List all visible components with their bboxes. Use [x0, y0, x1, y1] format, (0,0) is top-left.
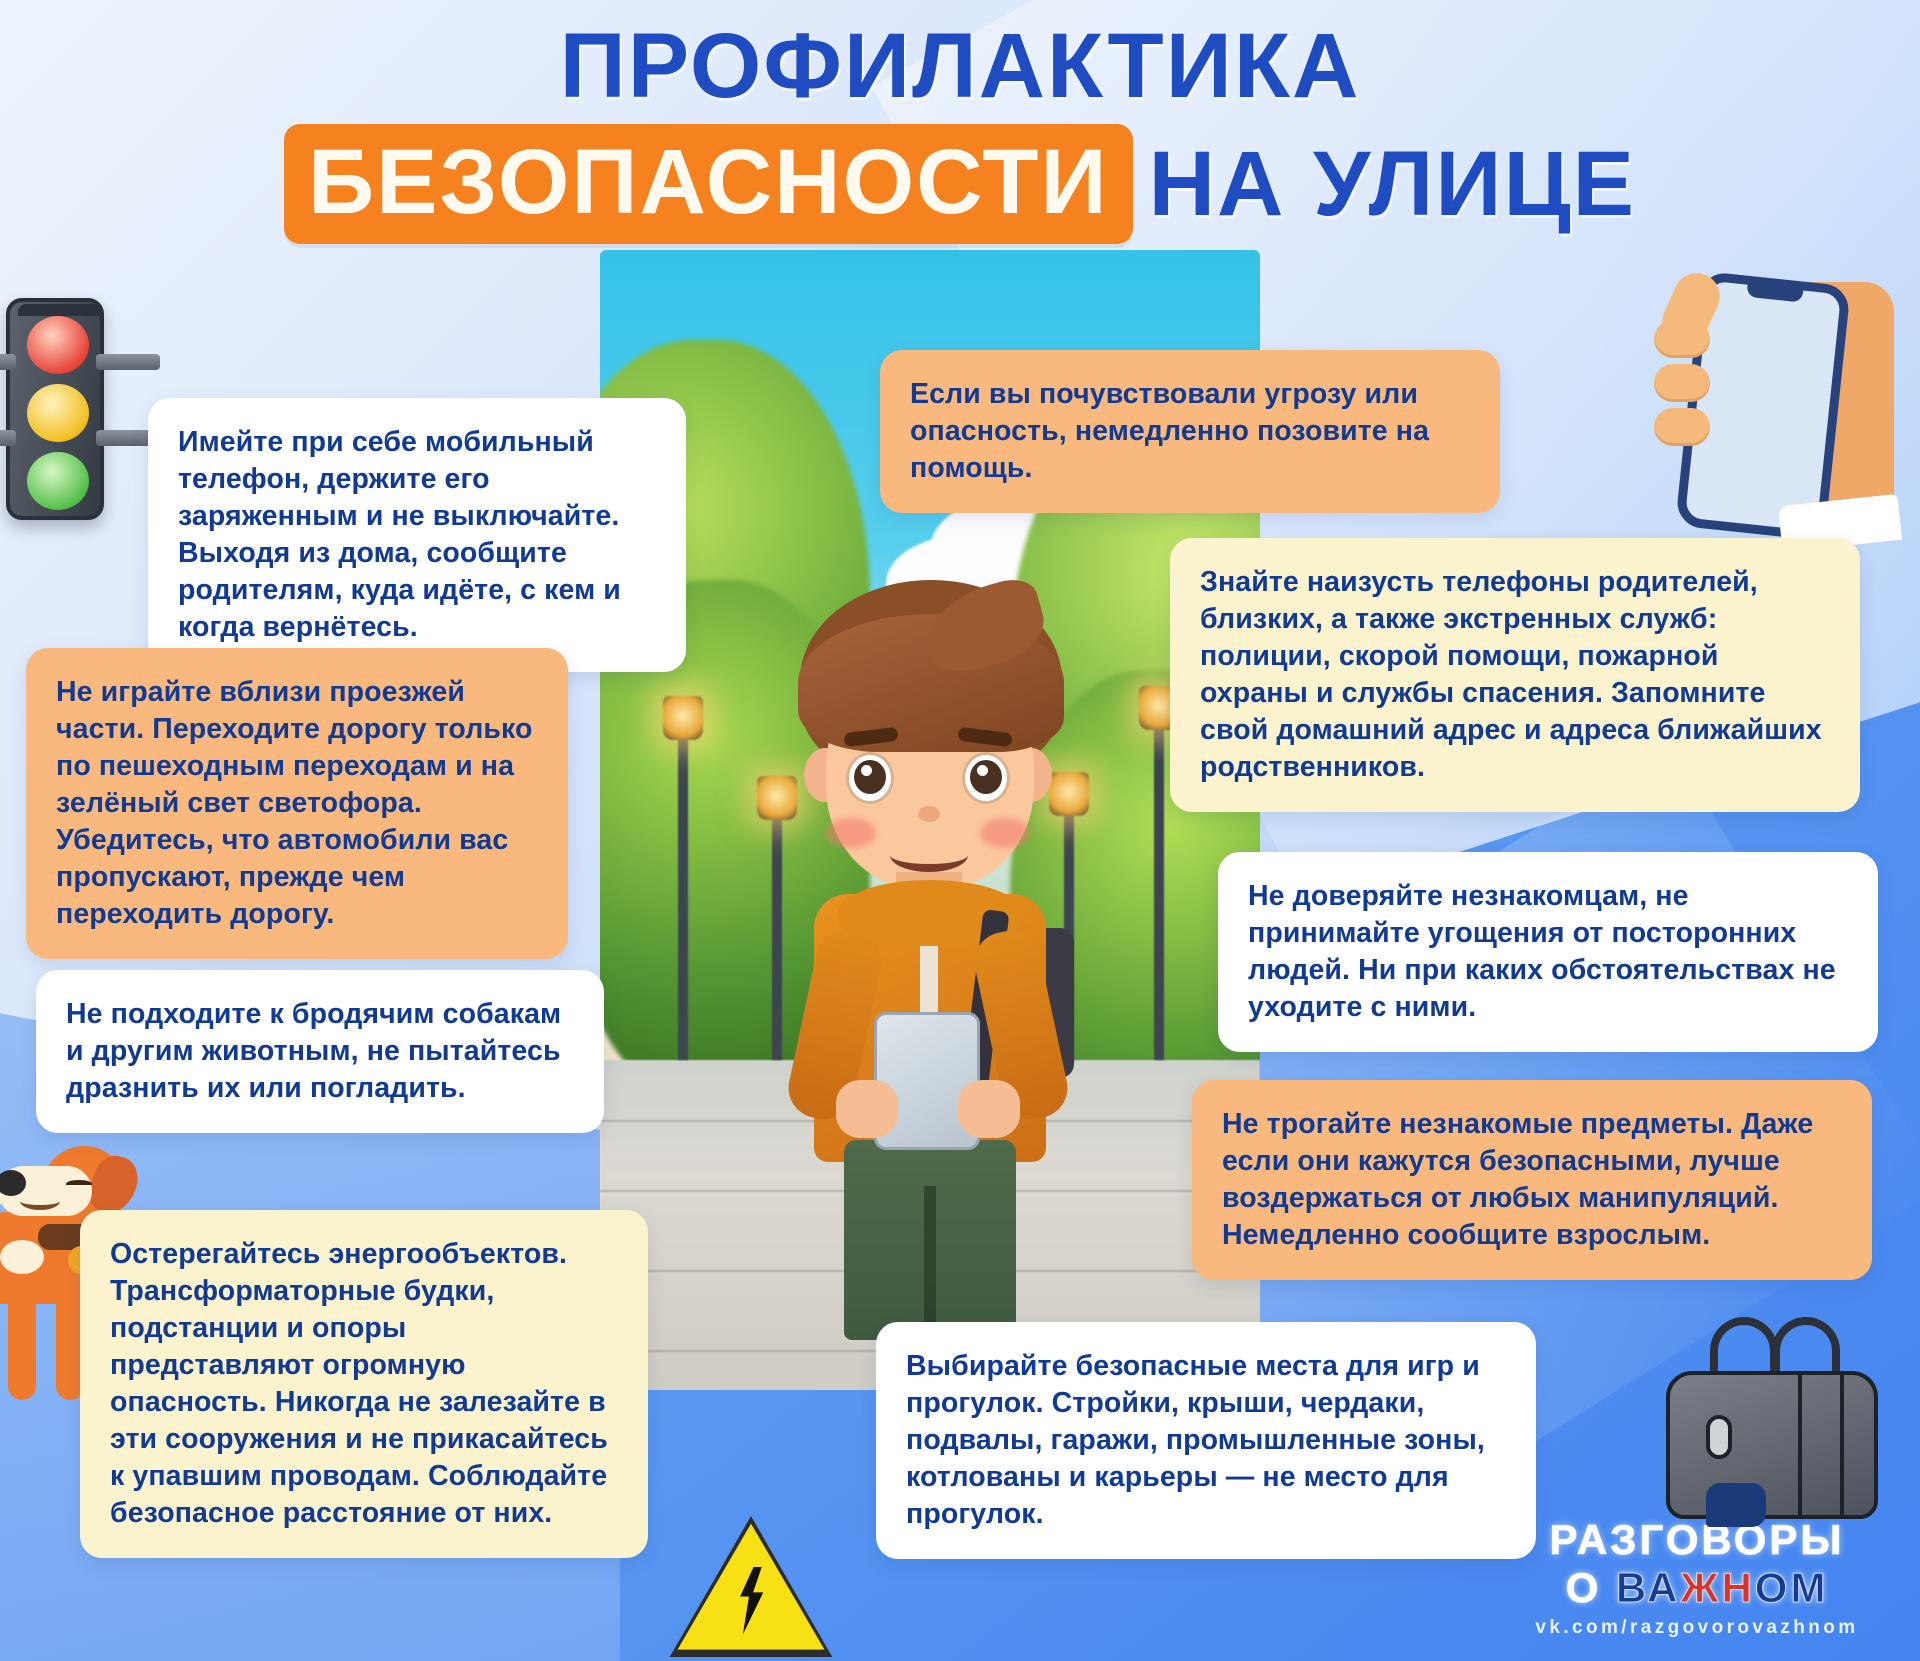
- logo-line-2-part2: ВА: [1616, 1564, 1681, 1611]
- tip-card-call-for-help: Если вы почувствовали угрозу или опаснос…: [880, 350, 1500, 513]
- logo-line-2-part1: О: [1566, 1564, 1616, 1611]
- poster-root: ПРОФИЛАКТИКА БЕЗОПАСНОСТИ НА УЛИЦЕ: [0, 0, 1920, 1661]
- logo-line-2-part3: ЖН: [1680, 1564, 1754, 1611]
- tip-card-emergency-numbers: Знайте наизусть телефоны родителей, близ…: [1170, 538, 1860, 812]
- page-title-line1: ПРОФИЛАКТИКА: [0, 18, 1920, 116]
- poster-header: ПРОФИЛАКТИКА БЕЗОПАСНОСТИ НА УЛИЦЕ: [0, 18, 1920, 244]
- traffic-light-icon: [6, 298, 104, 520]
- tip-card-strangers: Не доверяйте незнакомцам, не принимайте …: [1218, 852, 1878, 1052]
- page-title-line2: БЕЗОПАСНОСТИ НА УЛИЦЕ: [0, 124, 1920, 244]
- boy-character: [728, 580, 1128, 1340]
- tip-card-animals: Не подходите к бродячим собакам и другим…: [36, 970, 604, 1133]
- page-title-highlight: БЕЗОПАСНОСТИ: [284, 124, 1133, 244]
- hand-holding-phone-icon: [1650, 252, 1900, 542]
- traffic-light-yellow: [27, 384, 89, 442]
- logo-line-1: РАЗГОВОРЫ: [1506, 1519, 1888, 1561]
- tip-card-road-rules: Не играйте вблизи проезжей части. Перехо…: [26, 648, 568, 959]
- brand-logo[interactable]: РАЗГОВОРЫ О ВАЖНОМ vk.com/razgovorovazhn…: [1506, 1519, 1888, 1639]
- tip-card-safe-places: Выбирайте безопасные места для игр и про…: [876, 1322, 1536, 1559]
- logo-line-2-part4: ОМ: [1755, 1564, 1829, 1611]
- traffic-light-green: [27, 452, 89, 510]
- page-title-tail: НА УЛИЦЕ: [1149, 138, 1636, 230]
- tip-card-power-objects: Остерегайтесь энергообъектов. Трансформа…: [80, 1210, 648, 1558]
- traffic-light-red: [27, 316, 89, 374]
- tip-card-phone-rules: Имейте при себе мобильный телефон, держи…: [148, 398, 686, 672]
- logo-line-2: О ВАЖНОМ: [1506, 1567, 1888, 1609]
- street-lamp-icon: [1154, 720, 1164, 1060]
- tip-card-unknown-objects: Не трогайте незнакомые предметы. Даже ес…: [1192, 1080, 1872, 1280]
- logo-mark-icon: [1706, 1483, 1766, 1527]
- handbag-icon: [1648, 1319, 1898, 1529]
- street-lamp-icon: [678, 730, 688, 1060]
- logo-url[interactable]: vk.com/razgovorovazhnom: [1506, 1617, 1888, 1639]
- electrical-hazard-icon: [676, 1521, 826, 1655]
